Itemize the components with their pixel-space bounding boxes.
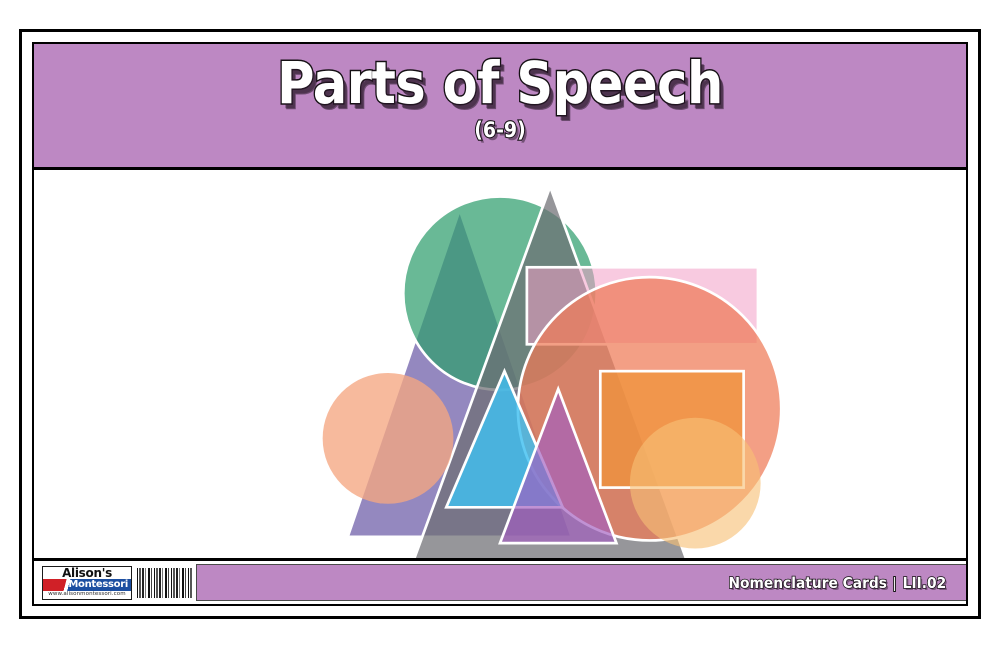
- nomenclature-card: Parts of Speech (6-9): [0, 0, 1000, 648]
- footer-separator: [894, 576, 897, 592]
- logo-website: www.alisonmontessori.com: [43, 591, 131, 598]
- page-title: Parts of Speech: [90, 50, 910, 116]
- card-frame-gap: Parts of Speech (6-9): [25, 35, 975, 613]
- footer-meta: Nomenclature Cards LII.02: [729, 574, 947, 592]
- brand-logo: Alison's Montessori www.alisonmontessori…: [34, 561, 134, 604]
- logo-box: Alison's Montessori www.alisonmontessori…: [42, 566, 132, 600]
- shape-cream-circle-right: [630, 418, 761, 549]
- card-body: [34, 170, 966, 558]
- card-footer: Alison's Montessori www.alisonmontessori…: [34, 558, 966, 604]
- logo-brand-bottom: Montessori: [68, 579, 128, 591]
- age-range-subtitle: (6-9): [81, 118, 920, 142]
- shape-peach-circle-left: [323, 373, 454, 504]
- barcode-bars: [137, 568, 193, 598]
- series-label: Nomenclature Cards: [729, 574, 888, 592]
- title-block: Parts of Speech (6-9): [34, 50, 966, 142]
- card-frame-outer: Parts of Speech (6-9): [19, 29, 981, 619]
- footer-strip: Nomenclature Cards LII.02: [196, 564, 966, 601]
- card-header: Parts of Speech (6-9): [34, 44, 966, 170]
- logo-brand-top: Alison's: [43, 567, 131, 579]
- grammar-symbols-artwork: [34, 170, 966, 558]
- barcode: [134, 561, 196, 604]
- card-frame-inner: Parts of Speech (6-9): [32, 42, 968, 606]
- artwork-svg: [34, 170, 966, 558]
- card-code: LII.02: [903, 574, 947, 592]
- logo-brand-bottom-band: Montessori: [43, 579, 131, 591]
